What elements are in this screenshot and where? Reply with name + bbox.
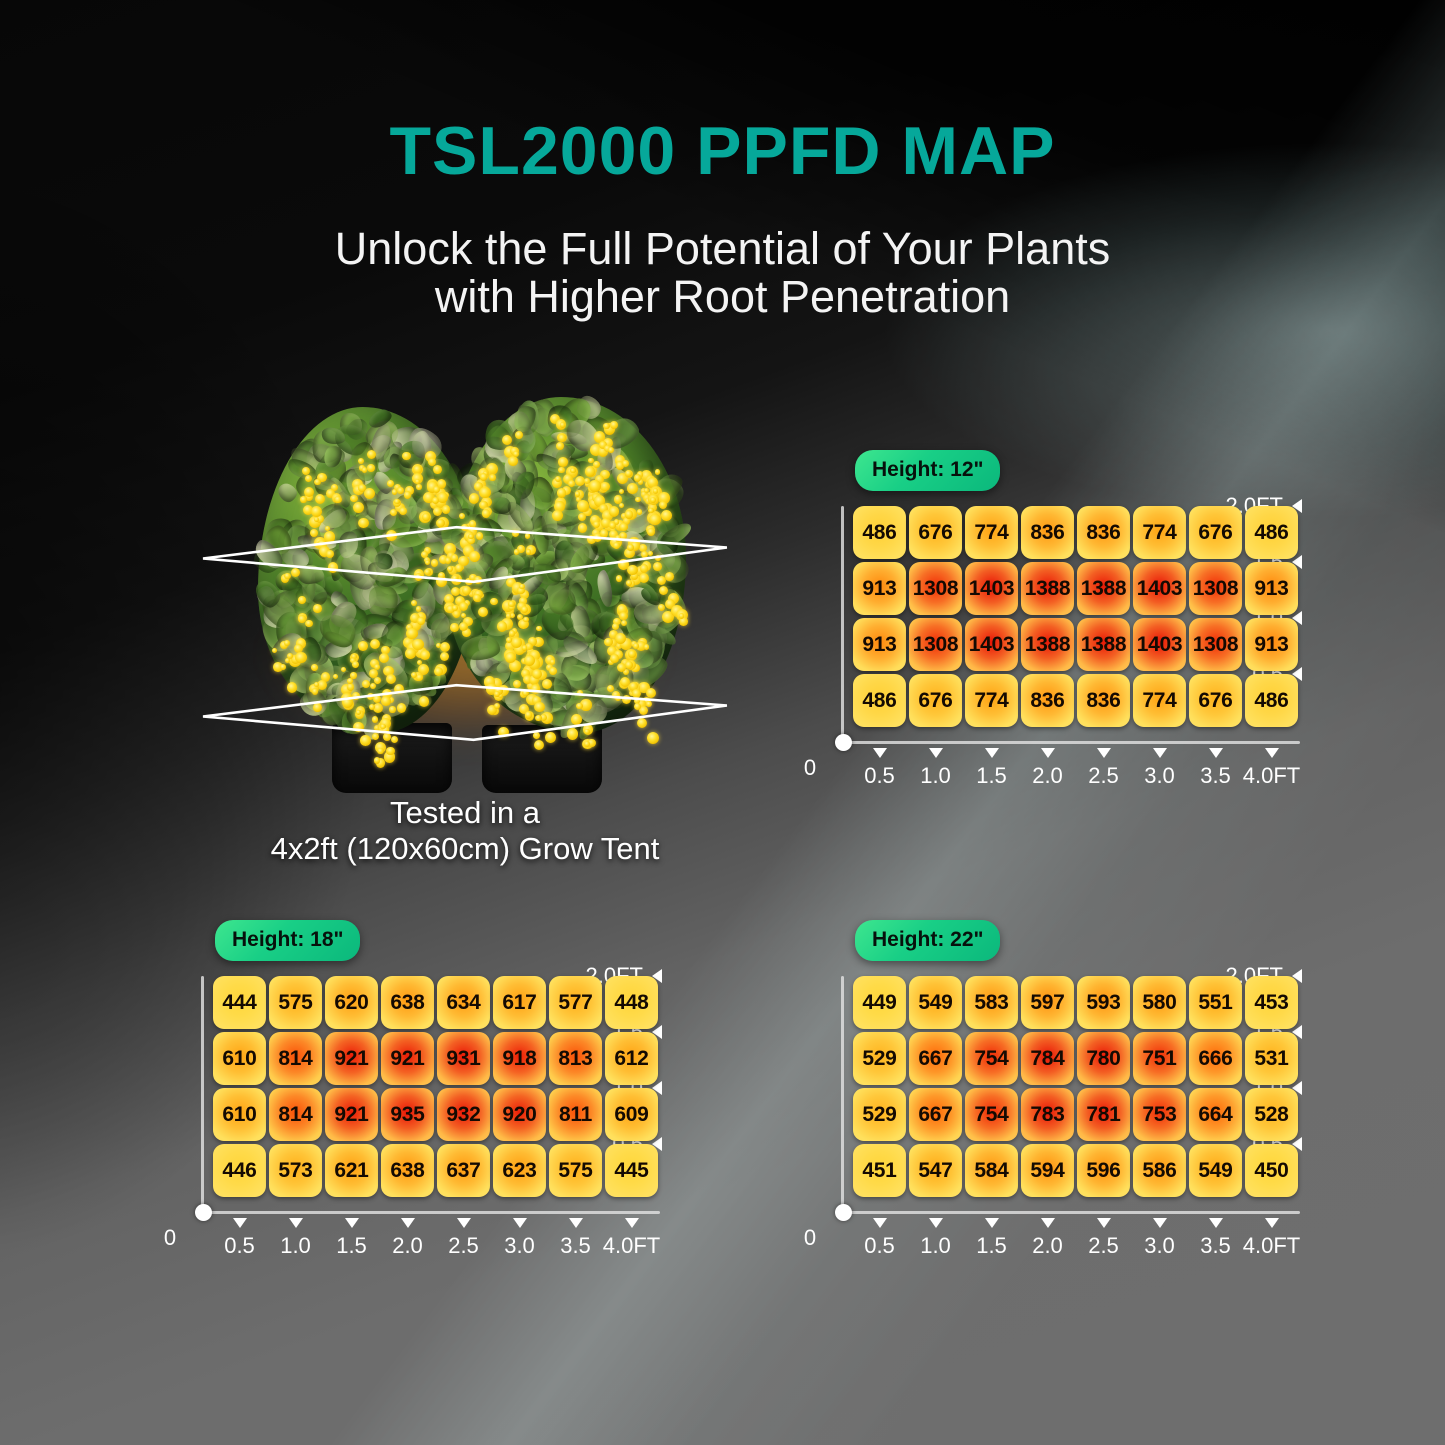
heatmap-cell: 446 [213, 1144, 266, 1197]
cell-value: 610 [222, 1103, 256, 1127]
heatmap-cell: 1403 [965, 618, 1018, 671]
cell-value: 445 [614, 1159, 648, 1183]
x-tick-label: 3.5 [560, 1233, 591, 1259]
cell-value: 621 [334, 1159, 368, 1183]
flower [450, 623, 458, 631]
cell-value: 612 [614, 1047, 648, 1071]
y-axis-line-0 [841, 506, 844, 741]
flower [524, 655, 535, 666]
heatmap-cell: 597 [1021, 976, 1074, 1029]
cell-value: 610 [222, 1047, 256, 1071]
flower [367, 450, 376, 459]
cell-value: 774 [1142, 521, 1176, 545]
x-tick-label: 3.0 [1144, 763, 1175, 789]
cell-value: 609 [614, 1103, 648, 1127]
flower [280, 664, 286, 670]
heatmap-cell: 637 [437, 1144, 490, 1197]
flower [459, 513, 465, 519]
cell-value: 444 [222, 991, 256, 1015]
heatmap-cell: 594 [1021, 1144, 1074, 1197]
flower [433, 507, 442, 516]
cell-value: 784 [1030, 1047, 1064, 1071]
x-tick-label: 2.0 [1032, 763, 1063, 789]
cell-value: 531 [1254, 1047, 1288, 1071]
heatmap-cell: 754 [965, 1088, 1018, 1141]
heatmap-cell: 596 [1077, 1144, 1130, 1197]
cell-value: 1308 [913, 577, 959, 601]
cell-value: 931 [446, 1047, 480, 1071]
heatmap-cell: 918 [493, 1032, 546, 1085]
tick-arrow-down-icon [1265, 748, 1279, 758]
cell-value: 584 [974, 1159, 1008, 1183]
x-tick-label: 2.0 [392, 1233, 423, 1259]
x-tick-label: 3.5 [1200, 1233, 1231, 1259]
heatmap-cell: 617 [493, 976, 546, 1029]
flower [315, 494, 325, 504]
heatmap-cell: 547 [909, 1144, 962, 1197]
heatmap-cell: 634 [437, 976, 490, 1029]
heatmap-cell: 621 [325, 1144, 378, 1197]
cell-value: 446 [222, 1159, 256, 1183]
cell-value: 547 [918, 1159, 952, 1183]
heatmap-cell: 1403 [1133, 618, 1186, 671]
cell-value: 836 [1086, 689, 1120, 713]
flower [608, 447, 614, 453]
tick-arrow-down-icon [873, 1218, 887, 1228]
cell-value: 754 [974, 1103, 1008, 1127]
y-axis-line-1 [201, 976, 204, 1211]
tick-arrow-down-icon [401, 1218, 415, 1228]
cell-value: 617 [502, 991, 536, 1015]
heatmap-cell: 453 [1245, 976, 1298, 1029]
flower [411, 672, 417, 678]
flower [298, 596, 306, 604]
cell-value: 486 [862, 521, 896, 545]
cell-value: 1388 [1081, 577, 1127, 601]
cell-value: 580 [1142, 991, 1176, 1015]
x-tick-2-7: 4.0FT [1232, 1218, 1312, 1259]
cell-value: 774 [974, 521, 1008, 545]
heatmap-cell: 450 [1245, 1144, 1298, 1197]
flower [358, 458, 364, 464]
flower [490, 598, 497, 605]
heatmap-cell: 575 [549, 1144, 602, 1197]
cell-value: 486 [862, 689, 896, 713]
cell-value: 486 [1254, 689, 1288, 713]
flower [560, 422, 566, 428]
heatmap-cell: 935 [381, 1088, 434, 1141]
heatmap-cell: 486 [853, 674, 906, 727]
cell-value: 1403 [1137, 633, 1183, 657]
heatmap-cell: 609 [605, 1088, 658, 1141]
heatmap-cell: 451 [853, 1144, 906, 1197]
flower [604, 638, 612, 646]
heatmap-cell: 666 [1189, 1032, 1242, 1085]
flower [416, 484, 421, 489]
flower [440, 642, 450, 652]
heatmap-cell: 836 [1077, 506, 1130, 559]
heatmap-cell: 620 [325, 976, 378, 1029]
heatmap-cell: 774 [965, 674, 1018, 727]
x-tick-label: 1.5 [976, 1233, 1007, 1259]
heatmap-cell: 583 [965, 976, 1018, 1029]
tick-arrow-down-icon [289, 1218, 303, 1228]
tick-arrow-down-icon [873, 748, 887, 758]
cell-value: 811 [559, 1103, 592, 1127]
tick-arrow-down-icon [1153, 1218, 1167, 1228]
heatmap-cell: 1308 [1189, 562, 1242, 615]
heatmap-cell: 667 [909, 1088, 962, 1141]
flower [451, 587, 460, 596]
heatmap-cell: 610 [213, 1088, 266, 1141]
heatmap-cell: 551 [1189, 976, 1242, 1029]
heatmap-cell: 836 [1021, 506, 1074, 559]
heatmap-cell: 676 [1189, 506, 1242, 559]
plot-area-1: 2.0FT1.51.00.500.51.01.52.02.53.03.54.0F… [145, 976, 662, 1259]
plot-area-2: 2.0FT1.51.00.500.51.01.52.02.53.03.54.0F… [785, 976, 1302, 1259]
heatmap-cell: 784 [1021, 1032, 1074, 1085]
cell-value: 754 [974, 1047, 1008, 1071]
flower [570, 468, 576, 474]
flower [459, 622, 468, 631]
tick-arrow-down-icon [985, 748, 999, 758]
flower [442, 505, 450, 513]
heatmap-grid-1: 4445756206386346175774486108149219219319… [213, 976, 658, 1197]
y-tick-label: 0 [804, 1225, 816, 1251]
heatmap-grid-2: 4495495835975935805514535296677547847807… [853, 976, 1298, 1197]
cell-value: 583 [974, 991, 1008, 1015]
tick-arrow-down-icon [457, 1218, 471, 1228]
height-badge-1: Height: 18" [215, 920, 360, 961]
heatmap-cell: 921 [325, 1032, 378, 1085]
cell-value: 486 [1254, 521, 1288, 545]
heatmap-cell: 781 [1077, 1088, 1130, 1141]
flower [633, 643, 639, 649]
cell-value: 549 [918, 991, 952, 1015]
measurement-plane-upper [194, 519, 735, 590]
heatmap-cell: 921 [325, 1088, 378, 1141]
flower [648, 508, 654, 514]
flower [593, 461, 600, 468]
y-tick-2-4: 0 [789, 1227, 831, 1249]
flower [420, 650, 429, 659]
cell-value: 575 [278, 991, 312, 1015]
x-tick-1-7: 4.0FT [592, 1218, 672, 1259]
flower [415, 479, 420, 484]
heatmap-cell: 448 [605, 976, 658, 1029]
cell-value: 638 [390, 1159, 424, 1183]
x-tick-label: 2.5 [1088, 763, 1119, 789]
heatmap-cell: 1388 [1021, 618, 1074, 671]
heatmap-cell: 664 [1189, 1088, 1242, 1141]
cell-value: 1388 [1081, 633, 1127, 657]
measurement-plane-lower [194, 677, 735, 748]
cell-value: 753 [1142, 1103, 1176, 1127]
tick-arrow-down-icon [625, 1218, 639, 1228]
cell-value: 814 [278, 1103, 312, 1127]
flower [300, 496, 306, 502]
flower [532, 669, 542, 679]
x-tick-label: 4.0FT [603, 1233, 660, 1259]
cell-value: 666 [1198, 1047, 1232, 1071]
heatmap-cell: 577 [549, 976, 602, 1029]
cell-value: 597 [1030, 991, 1064, 1015]
flower [387, 480, 394, 487]
tick-arrow-down-icon [1209, 748, 1223, 758]
x-tick-label: 4.0FT [1243, 763, 1300, 789]
heatmap-cell: 753 [1133, 1088, 1186, 1141]
flower [462, 586, 471, 595]
heatmap-cell: 549 [909, 976, 962, 1029]
y-tick-0-4: 0 [789, 757, 831, 779]
heatmap-cell: 586 [1133, 1144, 1186, 1197]
flower [519, 584, 524, 589]
cell-value: 1403 [969, 633, 1015, 657]
cell-value: 913 [1254, 633, 1288, 657]
flower [402, 452, 411, 461]
heatmap-cell: 573 [269, 1144, 322, 1197]
cell-value: 549 [1198, 1159, 1232, 1183]
heatmap-cell: 449 [853, 976, 906, 1029]
tick-arrow-down-icon [1209, 1218, 1223, 1228]
flower [610, 654, 619, 663]
flower [374, 677, 381, 684]
x-tick-label: 3.0 [504, 1233, 535, 1259]
heatmap-cell: 529 [853, 1032, 906, 1085]
flower [505, 652, 516, 663]
heatmap-cell: 813 [549, 1032, 602, 1085]
flower [549, 667, 557, 675]
x-tick-label: 4.0FT [1243, 1233, 1300, 1259]
heatmap-cell: 814 [269, 1088, 322, 1141]
heatmap-cell: 913 [1245, 618, 1298, 671]
tick-arrow-down-icon [1097, 1218, 1111, 1228]
plant-caption: Tested in a 4x2ft (120x60cm) Grow Tent [165, 795, 765, 867]
x-tick-label: 0.5 [224, 1233, 255, 1259]
flower [511, 637, 522, 648]
tick-arrow-down-icon [985, 1218, 999, 1228]
flower [452, 605, 458, 611]
tick-arrow-down-icon [1097, 748, 1111, 758]
y-tick-label: 0 [804, 755, 816, 781]
cell-value: 596 [1086, 1159, 1120, 1183]
x-axis-line-2 [841, 1211, 1300, 1214]
heatmap-cell: 612 [605, 1032, 658, 1085]
heatmap-cell: 486 [853, 506, 906, 559]
cell-value: 620 [334, 991, 368, 1015]
flower [625, 661, 633, 669]
plant-photo [185, 385, 745, 815]
flower [404, 491, 411, 498]
cell-value: 918 [502, 1047, 536, 1071]
cell-value: 774 [974, 689, 1008, 713]
flower [347, 678, 353, 684]
flower [469, 493, 479, 503]
flower [413, 465, 422, 474]
flower [650, 497, 656, 503]
flower [628, 650, 636, 658]
heatmap-cell: 580 [1133, 976, 1186, 1029]
tick-arrow-down-icon [929, 1218, 943, 1228]
heatmap-cell: 836 [1021, 674, 1074, 727]
heatmap-cell: 1388 [1021, 562, 1074, 615]
cell-value: 913 [862, 633, 896, 657]
flower [659, 586, 668, 595]
cell-value: 623 [502, 1159, 536, 1183]
heatmap-cell: 486 [1245, 506, 1298, 559]
flower [635, 497, 640, 502]
x-tick-label: 1.0 [920, 1233, 951, 1259]
x-tick-label: 2.5 [448, 1233, 479, 1259]
flower [295, 652, 307, 664]
flower [508, 456, 518, 466]
heatmap-cell: 754 [965, 1032, 1018, 1085]
cell-value: 921 [334, 1103, 368, 1127]
heatmap-cell: 913 [853, 562, 906, 615]
cell-value: 676 [1198, 521, 1232, 545]
x-tick-label: 3.5 [1200, 763, 1231, 789]
cell-value: 921 [334, 1047, 368, 1071]
flower [609, 506, 620, 517]
flower [612, 623, 619, 630]
heatmap-cell: 444 [213, 976, 266, 1029]
heatmap-cell: 575 [269, 976, 322, 1029]
x-axis-line-0 [841, 741, 1300, 744]
cell-value: 528 [1254, 1103, 1288, 1127]
cell-value: 449 [862, 991, 896, 1015]
heatmap-cell: 836 [1077, 674, 1130, 727]
cell-value: 529 [862, 1103, 896, 1127]
heatmap-cell: 638 [381, 1144, 434, 1197]
heatmap-cell: 623 [493, 1144, 546, 1197]
x-tick-label: 2.5 [1088, 1233, 1119, 1259]
cell-value: 450 [1254, 1159, 1288, 1183]
cell-value: 913 [1254, 577, 1288, 601]
x-axis-line-1 [201, 1211, 660, 1214]
flower [589, 480, 600, 491]
cell-value: 451 [862, 1159, 896, 1183]
x-tick-label: 3.0 [1144, 1233, 1175, 1259]
cell-value: 664 [1198, 1103, 1232, 1127]
cell-value: 453 [1254, 991, 1288, 1015]
tick-arrow-down-icon [1041, 1218, 1055, 1228]
cell-value: 594 [1030, 1159, 1064, 1183]
cell-value: 634 [446, 991, 480, 1015]
flower [392, 489, 398, 495]
heatmap-cell: 913 [853, 618, 906, 671]
flower [417, 617, 425, 625]
heatmap-grid-0: 4866767748368367746764869131308140313881… [853, 506, 1298, 727]
heatmap-cell: 549 [1189, 1144, 1242, 1197]
heatmap-cell: 1308 [909, 562, 962, 615]
cell-value: 1403 [969, 577, 1015, 601]
heatmap-cell: 445 [605, 1144, 658, 1197]
heatmap-cell: 676 [909, 506, 962, 559]
cell-value: 783 [1030, 1103, 1064, 1127]
cell-value: 913 [862, 577, 896, 601]
cell-value: 1308 [1193, 633, 1239, 657]
heatmap-cell: 931 [437, 1032, 490, 1085]
cell-value: 1403 [1137, 577, 1183, 601]
cell-value: 836 [1030, 521, 1064, 545]
heatmap-cell: 774 [1133, 506, 1186, 559]
heatmap-cell: 780 [1077, 1032, 1130, 1085]
cell-value: 1308 [913, 633, 959, 657]
heatmap-cell: 676 [909, 674, 962, 727]
cell-value: 751 [1142, 1047, 1176, 1071]
flower [603, 423, 609, 429]
flower [627, 483, 638, 494]
flower [314, 479, 321, 486]
flower [556, 442, 564, 450]
cell-value: 1388 [1025, 633, 1071, 657]
cell-value: 935 [390, 1103, 424, 1127]
cell-value: 529 [862, 1047, 896, 1071]
tick-arrow-down-icon [569, 1218, 583, 1228]
tick-arrow-down-icon [233, 1218, 247, 1228]
flower [406, 628, 417, 639]
flower [367, 464, 374, 471]
flower [353, 502, 364, 513]
heatmap-cell: 638 [381, 976, 434, 1029]
flower [489, 474, 495, 480]
heatmap-cell: 1388 [1077, 562, 1130, 615]
flower [313, 604, 322, 613]
flower [558, 467, 564, 473]
flower [362, 467, 367, 472]
cell-value: 1388 [1025, 577, 1071, 601]
flower [555, 476, 562, 483]
cell-value: 781 [1086, 1103, 1120, 1127]
x-tick-label: 1.0 [280, 1233, 311, 1259]
heatmap-cell: 932 [437, 1088, 490, 1141]
cell-value: 667 [918, 1103, 952, 1127]
y-axis-line-2 [841, 976, 844, 1211]
flower [659, 501, 667, 509]
cell-value: 667 [918, 1047, 952, 1071]
tick-arrow-down-icon [929, 748, 943, 758]
tick-arrow-down-icon [1153, 748, 1167, 758]
x-tick-label: 0.5 [864, 763, 895, 789]
cell-value: 638 [390, 991, 424, 1015]
heatmap-cell: 920 [493, 1088, 546, 1141]
y-tick-label: 0 [164, 1225, 176, 1251]
heatmap-cell: 584 [965, 1144, 1018, 1197]
heatmap-cell: 528 [1245, 1088, 1298, 1141]
flower [585, 466, 595, 476]
flower [634, 474, 641, 481]
heatmap-cell: 774 [965, 506, 1018, 559]
cell-value: 920 [502, 1103, 536, 1127]
flower [399, 507, 407, 515]
heatmap-cell: 913 [1245, 562, 1298, 615]
flower [479, 487, 491, 499]
cell-value: 676 [918, 689, 952, 713]
tick-arrow-down-icon [345, 1218, 359, 1228]
flower [558, 434, 566, 442]
heatmap-cell: 811 [549, 1088, 602, 1141]
height-badge-2: Height: 22" [855, 920, 1000, 961]
tick-arrow-down-icon [1265, 1218, 1279, 1228]
heatmap-cell: 1403 [1133, 562, 1186, 615]
flower [502, 435, 512, 445]
cell-value: 676 [918, 521, 952, 545]
cell-value: 932 [446, 1103, 480, 1127]
page-title: TSL2000 PPFD MAP [0, 112, 1445, 190]
heatmap-cell: 1308 [1189, 618, 1242, 671]
flower [637, 509, 642, 514]
tick-arrow-down-icon [513, 1218, 527, 1228]
